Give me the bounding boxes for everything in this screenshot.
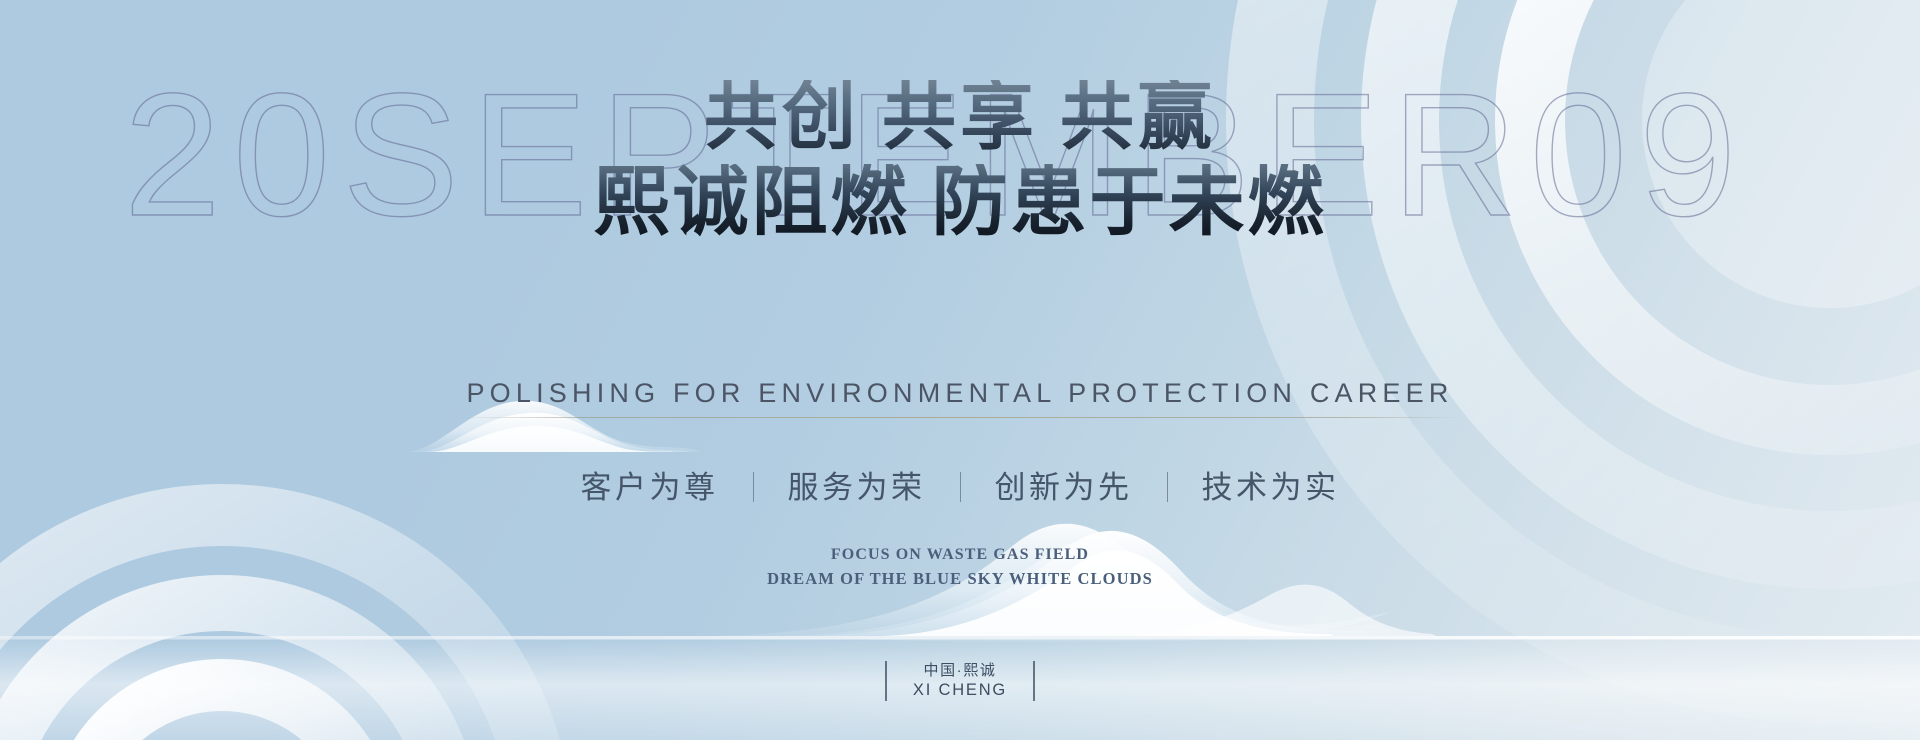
headline-line-2: 熙诚阻燃防患于未燃 [0, 164, 1920, 242]
value-separator-3 [1167, 472, 1168, 502]
logo-right-bar-icon [1033, 661, 1035, 701]
ghost-outline-headline-container: 20SEPTEMBER09 [0, 68, 1920, 243]
logo-chinese-name: 中国·熙诚 [913, 661, 1007, 681]
value-phrase-2: 服务为荣 [760, 462, 954, 507]
logo-lockup: 中国·熙诚 XI CHENG [885, 661, 1034, 702]
value-phrase-3: 创新为先 [967, 462, 1161, 507]
logo-left-bar-icon [885, 661, 887, 701]
headline-line-2-part-2: 防患于未燃 [932, 161, 1327, 245]
serif-subtitle-line-1: FOCUS ON WASTE GAS FIELD [0, 544, 1920, 567]
serif-subtitle-line-2: DREAM OF THE BLUE SKY WHITE CLOUDS [0, 567, 1920, 590]
headline-line-1: 共创共享共赢 [0, 80, 1920, 156]
headline-line-2-part-1: 熙诚阻燃 [594, 161, 910, 245]
decorative-background-layer [0, 0, 1920, 740]
value-phrases-container: 客户为尊 服务为荣 创新为先 技术为实 [0, 462, 1920, 507]
serif-subtitle-container: FOCUS ON WASTE GAS FIELD DREAM OF THE BL… [0, 544, 1920, 590]
value-separator-1 [753, 472, 754, 502]
english-tagline: POLISHING FOR ENVIRONMENTAL PROTECTION C… [466, 378, 1453, 418]
headline-line-1-part-1: 共创 [704, 77, 860, 159]
headline-block: 共创共享共赢 熙诚阻燃防患于未燃 [0, 80, 1920, 242]
horizon-line-decor [0, 636, 1920, 640]
headline-line-1-part-3: 共赢 [1060, 77, 1216, 159]
top-right-rings-decor [1270, 0, 1920, 680]
tagline-container: POLISHING FOR ENVIRONMENTAL PROTECTION C… [0, 378, 1920, 418]
value-phrase-4: 技术为实 [1174, 462, 1368, 507]
right-cloud-decor [700, 524, 1436, 642]
logo-english-name: XI CHENG [913, 680, 1007, 701]
bottom-left-rings-decor [0, 515, 542, 740]
logo-text-group: 中国·熙诚 XI CHENG [913, 661, 1007, 702]
ghost-outline-headline: 20SEPTEMBER09 [124, 68, 1749, 243]
banner-root: 20SEPTEMBER09 共创共享共赢 熙诚阻燃防患于未燃 POLISHING… [0, 0, 1920, 740]
logo-lockup-container: 中国·熙诚 XI CHENG [0, 661, 1920, 706]
value-phrases-row: 客户为尊 服务为荣 创新为先 技术为实 [553, 462, 1368, 507]
value-phrase-1: 客户为尊 [553, 462, 747, 507]
value-separator-2 [960, 472, 961, 502]
headline-line-1-part-2: 共享 [882, 77, 1038, 159]
